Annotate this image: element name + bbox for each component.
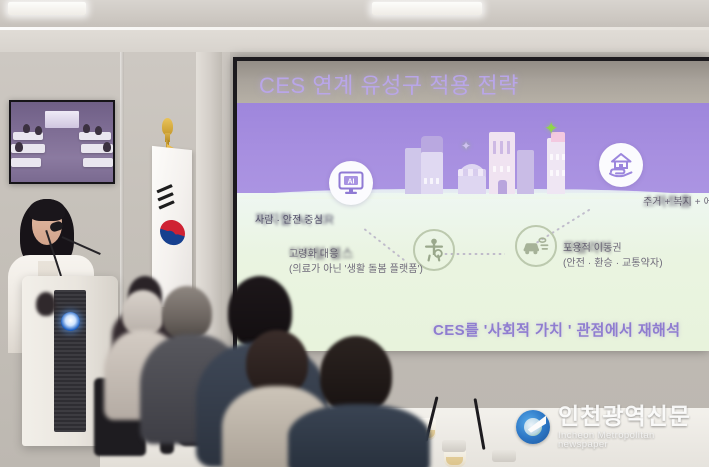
city-window	[507, 166, 510, 172]
city-window-row	[550, 154, 565, 160]
city-window	[436, 178, 439, 184]
label-mobility: 모빌리티 포용적 이동권 (안전 · 환승 · 교통약자)	[563, 237, 663, 269]
flag-trigram-bar	[157, 192, 173, 201]
label-smart-home-head: 스마트홈	[643, 191, 692, 210]
monitor-table-row	[83, 158, 113, 167]
svg-text:AI: AI	[348, 178, 355, 185]
city-window	[507, 141, 510, 154]
sparkle-small-icon: ✦	[461, 140, 471, 152]
pen-nib-globe-icon	[516, 410, 550, 444]
city-window-row	[493, 166, 510, 172]
audience-head	[320, 336, 392, 414]
city-window-row	[550, 170, 565, 176]
audience-shoulders	[288, 404, 430, 467]
monitor-attendee	[95, 126, 102, 135]
table-microphone-base	[492, 450, 516, 462]
secondary-display-content	[11, 102, 113, 182]
label-mobility-head: 모빌리티	[563, 237, 612, 256]
city-skyline-illustration	[405, 116, 565, 194]
presenter-hair-front	[29, 199, 65, 221]
city-building	[421, 152, 443, 194]
city-door	[498, 180, 507, 194]
monitor-attendee	[15, 142, 23, 152]
watermark-english: Incheon Metropolitan newspaper	[558, 431, 704, 450]
lectern-emblem-icon	[61, 312, 80, 331]
city-window	[562, 170, 565, 176]
city-window	[556, 170, 559, 176]
monitor-inner-screen	[45, 111, 79, 128]
node-physical-ai: AI	[329, 161, 373, 205]
city-shop-awning	[458, 169, 486, 176]
person-health-icon	[423, 238, 445, 262]
photo-stage: CES 연계 유성구 적용 전략	[0, 0, 709, 467]
label-physical-ai-head: 피지컬 AI, XR	[255, 209, 334, 228]
city-window	[500, 141, 503, 154]
watermark-text: 인천광역신문 Incheon Metropolitan newspaper	[558, 405, 704, 450]
monitor-ai-icon: AI	[338, 171, 364, 195]
city-tree	[445, 174, 456, 194]
monitor-attendee	[103, 142, 111, 152]
table-microphone-base	[442, 440, 466, 452]
city-window	[493, 166, 496, 172]
house-hand-icon	[608, 152, 634, 178]
city-building	[547, 138, 565, 194]
monitor-attendee	[83, 124, 90, 133]
label-digital-health-head: 디지털 헬스	[289, 243, 354, 262]
ceiling-light-left	[8, 2, 86, 15]
monitor-attendee	[35, 126, 42, 135]
city-window	[424, 178, 427, 184]
label-physical-ai: 피지컬 AI, XR 사람 · 안전 중심	[255, 209, 323, 226]
car-motion-icon	[522, 236, 550, 256]
flag-trigram-bar	[158, 200, 174, 209]
city-window	[556, 154, 559, 160]
monitor-table-row	[11, 158, 41, 167]
newspaper-watermark: 인천광역신문 Incheon Metropolitan newspaper	[516, 404, 704, 450]
label-mobility-sub2: (안전 · 환승 · 교통약자)	[563, 254, 663, 269]
city-tree	[536, 174, 547, 194]
node-mobility	[515, 225, 557, 267]
slide-footer-text: CES를 '사회적 가치 ' 관점에서 재해석	[433, 319, 680, 340]
monitor-attendee	[23, 124, 30, 133]
label-smart-home: 스마트홈 주거 + 복지 + 에너지 + 안전	[643, 191, 709, 208]
node-smart-home	[599, 143, 643, 187]
city-window	[550, 170, 553, 176]
slide-title: CES 연계 유성구 적용 전략	[259, 68, 519, 100]
sparkle-icon: ✦	[544, 120, 558, 137]
ceiling-light-right	[372, 2, 482, 15]
audience-head	[36, 292, 56, 316]
watermark-korean: 인천광역신문	[558, 405, 704, 428]
city-window	[500, 166, 503, 172]
city-building	[517, 150, 534, 194]
flag-taeguk-symbol	[160, 219, 185, 247]
projection-screen: CES 연계 유성구 적용 전략	[233, 57, 709, 351]
city-window-row	[493, 141, 510, 154]
secondary-display	[9, 100, 115, 184]
city-window	[550, 154, 553, 160]
presentation-slide: CES 연계 유성구 적용 전략	[237, 61, 709, 351]
label-digital-health: 디지털 헬스 고령화 대응 (의료가 아닌 '생활 돌봄 플랫폼')	[289, 243, 423, 275]
city-window	[493, 141, 496, 154]
ceiling	[0, 0, 709, 30]
label-digital-health-sub2: (의료가 아닌 '생활 돌봄 플랫폼')	[289, 260, 423, 275]
city-window	[430, 178, 433, 184]
city-window-row	[424, 178, 439, 184]
city-window	[562, 154, 565, 160]
flag-trigram-bar	[156, 184, 172, 193]
audience-head	[162, 286, 212, 340]
